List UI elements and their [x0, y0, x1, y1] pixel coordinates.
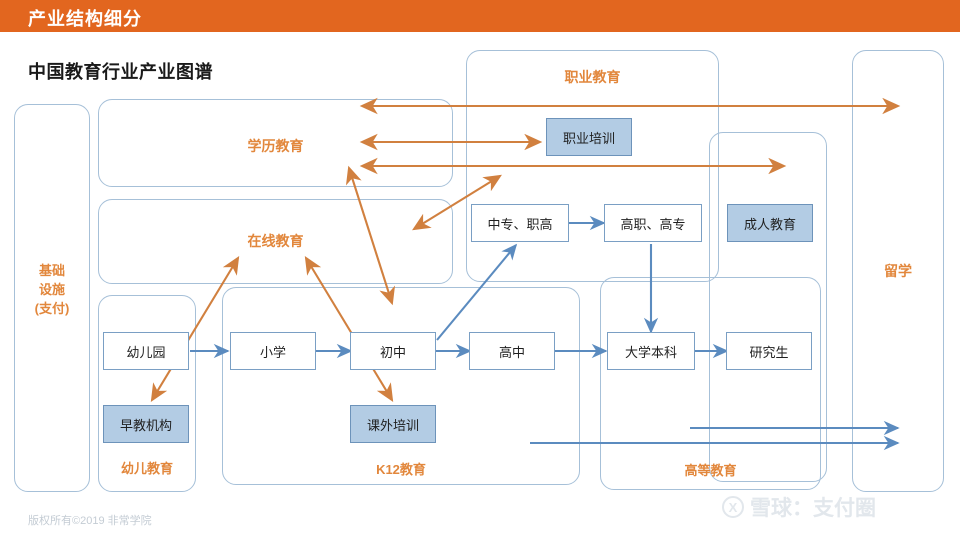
group-higher-education	[600, 277, 821, 490]
watermark-text: 雪球：支付圈	[750, 492, 876, 522]
group-k12-education-label: K12教育	[222, 459, 580, 478]
xueqiu-logo-icon: X	[722, 496, 744, 518]
node-vocational-training-label: 职业培训	[563, 128, 615, 147]
node-primary-school[interactable]: 小学	[230, 332, 316, 370]
node-junior-high[interactable]: 初中	[350, 332, 436, 370]
node-early-education[interactable]: 早教机构	[103, 405, 189, 443]
node-kindergarten[interactable]: 幼儿园	[103, 332, 189, 370]
node-early-education-label: 早教机构	[120, 415, 172, 434]
node-senior-high-label: 高中	[499, 342, 525, 361]
header-bar	[0, 0, 960, 32]
node-senior-high[interactable]: 高中	[469, 332, 555, 370]
node-primary-school-label: 小学	[260, 342, 286, 361]
node-secondary-vocational[interactable]: 中专、职高	[471, 204, 569, 242]
group-online-education-label: 在线教育	[98, 231, 453, 251]
node-adult-education[interactable]: 成人教育	[727, 204, 813, 242]
infrastructure-line-3: (支付)	[14, 299, 90, 318]
node-higher-vocational-label: 高职、高专	[620, 214, 685, 233]
watermark: X 雪球：支付圈	[722, 492, 876, 522]
group-preschool-education-label: 幼儿教育	[98, 458, 196, 477]
node-graduate[interactable]: 研究生	[726, 332, 812, 370]
group-k12-education	[222, 287, 580, 485]
group-higher-education-label: 高等教育	[600, 460, 821, 479]
group-infrastructure-label: 基础 设施 (支付)	[14, 261, 90, 318]
node-junior-high-label: 初中	[380, 342, 406, 361]
node-adult-education-label: 成人教育	[744, 214, 796, 233]
node-university[interactable]: 大学本科	[607, 332, 695, 370]
node-after-school-training[interactable]: 课外培训	[350, 405, 436, 443]
copyright-text: 版权所有©2019 非常学院	[28, 512, 152, 528]
group-vocational-education-label: 职业教育	[466, 67, 719, 87]
group-degree-education-label: 学历教育	[98, 136, 453, 156]
node-kindergarten-label: 幼儿园	[126, 342, 165, 361]
group-study-abroad-label: 留学	[852, 261, 944, 281]
infrastructure-line-1: 基础	[14, 261, 90, 280]
node-graduate-label: 研究生	[749, 342, 788, 361]
page-title: 中国教育行业产业图谱	[28, 58, 213, 84]
node-after-school-training-label: 课外培训	[367, 415, 419, 434]
node-secondary-vocational-label: 中专、职高	[487, 214, 552, 233]
node-university-label: 大学本科	[625, 342, 677, 361]
node-higher-vocational[interactable]: 高职、高专	[604, 204, 702, 242]
section-label: 产业结构细分	[28, 5, 142, 31]
slide-canvas: 产业结构细分 中国教育行业产业图谱 基础 设施 (支付) 学历教育 在线教育 职…	[0, 0, 960, 540]
infrastructure-line-2: 设施	[14, 280, 90, 299]
node-vocational-training[interactable]: 职业培训	[546, 118, 632, 156]
